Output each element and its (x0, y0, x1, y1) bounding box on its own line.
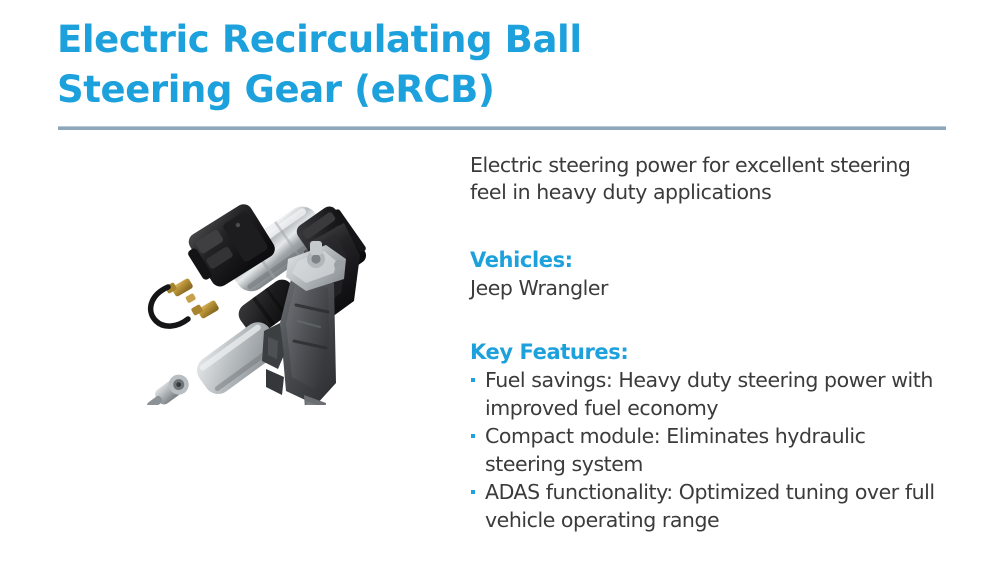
product-image (120, 155, 370, 405)
page-title: Electric Recirculating Ball Steering Gea… (57, 15, 817, 115)
key-features-section: Key Features: Fuel savings: Heavy duty s… (470, 340, 940, 534)
steering-gear-render (120, 155, 370, 405)
bullet-icon (471, 378, 475, 382)
feature-text: ADAS functionality: Optimized tuning ove… (485, 479, 940, 534)
list-item: ADAS functionality: Optimized tuning ove… (470, 479, 940, 534)
key-features-heading: Key Features: (470, 340, 940, 365)
feature-text: Compact module: Eliminates hydraulic ste… (485, 423, 940, 478)
list-item: Compact module: Eliminates hydraulic ste… (470, 423, 940, 478)
bullet-icon (471, 434, 475, 438)
title-divider-rule (58, 126, 946, 130)
page-title-line-2: Steering Gear (eRCB) (57, 65, 817, 115)
vehicles-section: Vehicles: Jeep Wrangler (470, 248, 940, 302)
page-title-line-1: Electric Recirculating Ball (57, 15, 817, 65)
bullet-icon (471, 490, 475, 494)
intro-description: Electric steering power for excellent st… (470, 152, 932, 206)
list-item: Fuel savings: Heavy duty steering power … (470, 367, 940, 422)
feature-text: Fuel savings: Heavy duty steering power … (485, 367, 940, 422)
vehicles-value: Jeep Wrangler (470, 275, 940, 302)
vehicles-heading: Vehicles: (470, 248, 940, 273)
key-features-list: Fuel savings: Heavy duty steering power … (470, 367, 940, 534)
content-column: Electric steering power for excellent st… (470, 152, 940, 535)
